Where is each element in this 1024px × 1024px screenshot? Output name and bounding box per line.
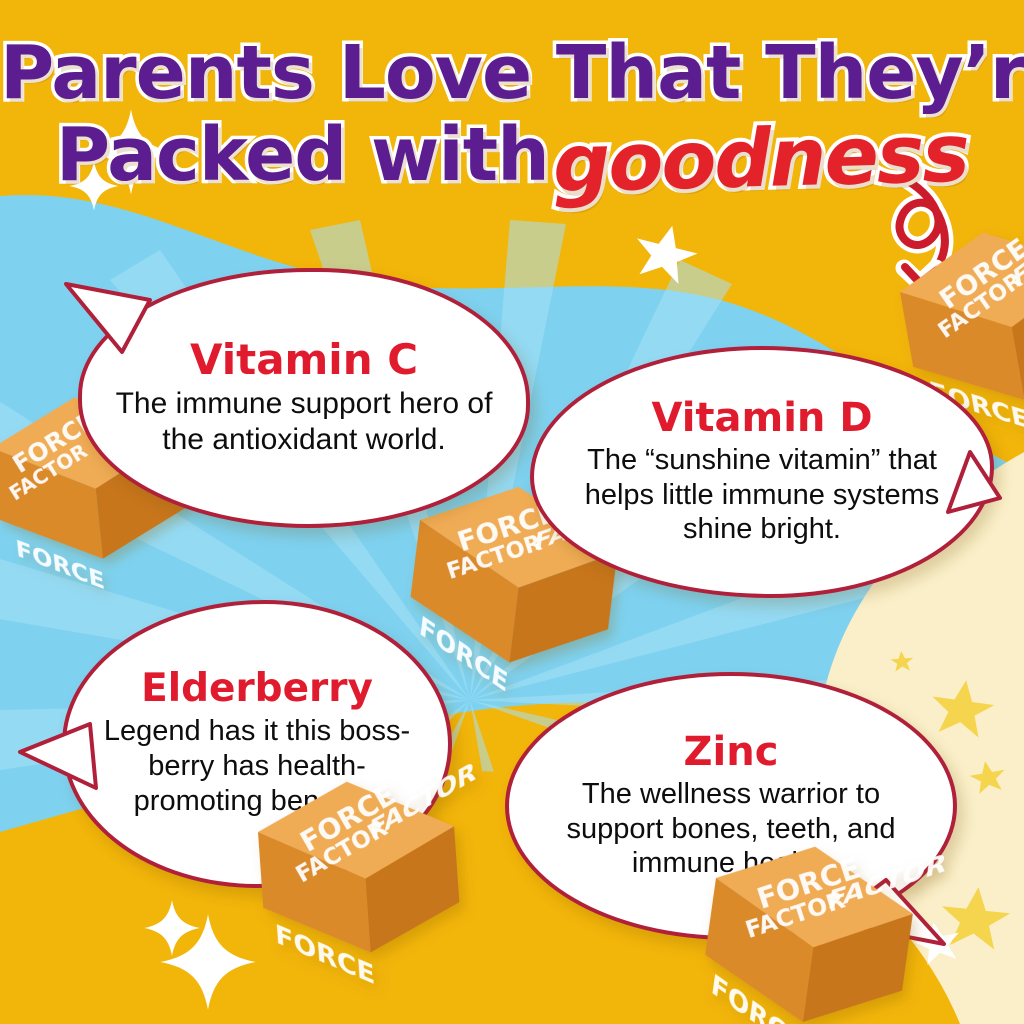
poster-canvas: .bf-top{fill:#F0AC55;} .bf-left{fill:#DB…	[0, 0, 1024, 1024]
product-box: FORCE FACTOR FORCE FACTOR	[692, 817, 948, 1024]
product-boxes-front: .bf2-top{fill:#F0AC55;} .bf2-left{fill:#…	[0, 0, 1024, 1024]
product-box: FORCE FACTOR FORCE FACTOR	[254, 756, 491, 999]
